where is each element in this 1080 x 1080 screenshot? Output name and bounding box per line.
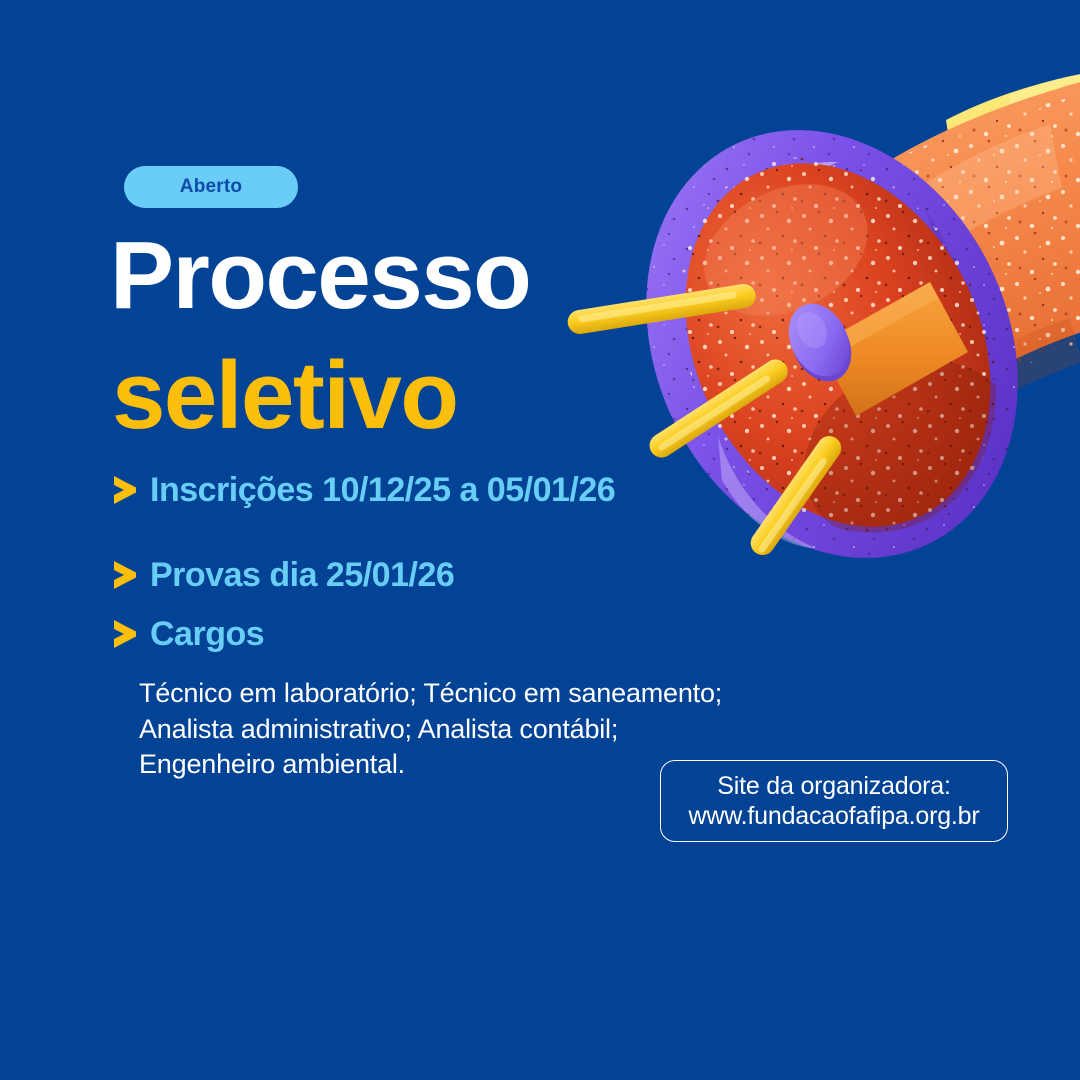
page-title-line-1: Processo (110, 228, 530, 324)
bullet-label-inscricoes: Inscrições 10/12/25 a 05/01/26 (150, 473, 615, 507)
status-badge: Aberto (124, 166, 298, 208)
bullet-label-cargos: Cargos (150, 617, 264, 651)
jobs-list-text: Técnico em laboratório; Técnico em sanea… (139, 676, 722, 783)
bullet-label-provas: Provas dia 25/01/26 (150, 558, 454, 592)
bullet-item-provas: Provas dia 25/01/26 (112, 558, 454, 592)
bullet-item-inscricoes: Inscrições 10/12/25 a 05/01/26 (112, 473, 615, 507)
poster-canvas: Aberto Processo seletivo Inscrições 10/1… (0, 0, 1080, 1080)
organizer-site-box[interactable]: Site da organizadora: www.fundacaofafipa… (660, 760, 1008, 842)
organizer-site-label: Site da organizadora: (717, 772, 950, 800)
chevron-right-icon (112, 474, 138, 506)
chevron-right-icon (112, 618, 138, 650)
bullet-item-cargos: Cargos (112, 617, 264, 651)
page-title-line-2: seletivo (112, 348, 458, 444)
status-badge-label: Aberto (180, 176, 242, 198)
chevron-right-icon (112, 559, 138, 591)
organizer-site-url[interactable]: www.fundacaofafipa.org.br (688, 802, 979, 830)
